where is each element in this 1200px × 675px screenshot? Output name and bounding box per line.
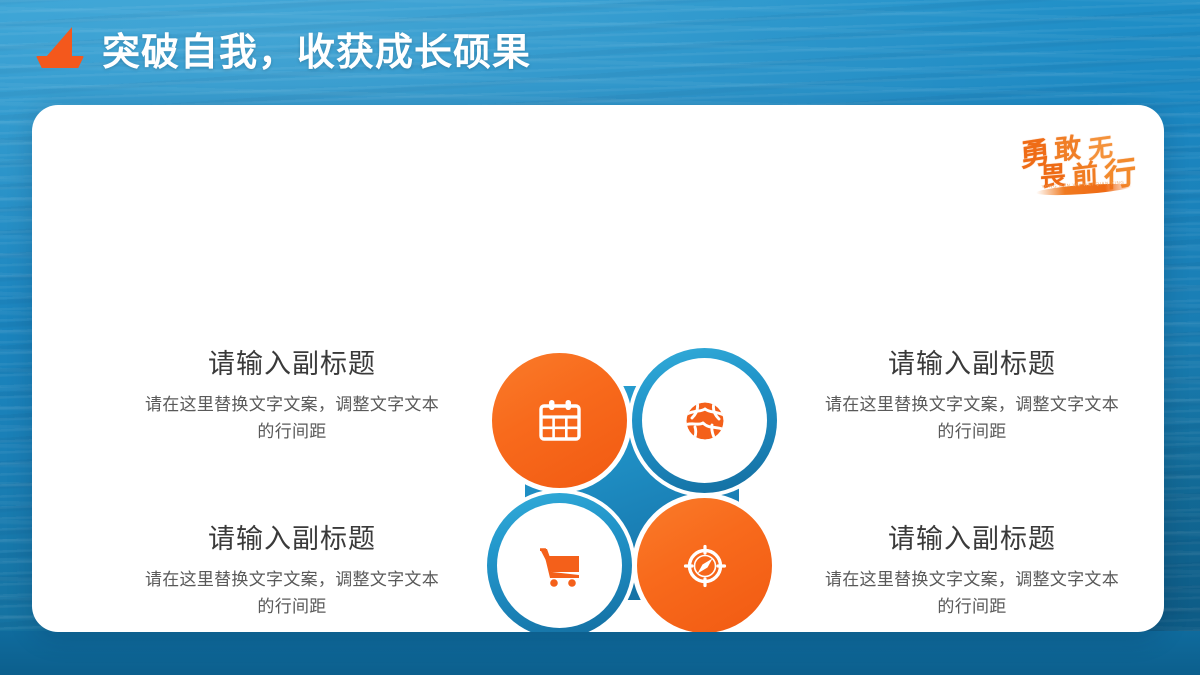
sailboat-icon <box>34 26 86 70</box>
content-card: 勇 敢 无 畏 前 行 YONG GAN WU WEI QIAN XING 请输… <box>32 105 1164 632</box>
node-bottom-right[interactable] <box>632 493 777 632</box>
globe-icon <box>681 397 729 445</box>
text-block-heading: 请输入副标题 <box>127 348 457 382</box>
text-block-heading: 请输入副标题 <box>127 523 457 557</box>
brand-logo: 勇 敢 无 畏 前 行 YONG GAN WU WEI QIAN XING <box>1006 127 1146 205</box>
text-block-body: 请在这里替换文字文案，调整文字文本的行间距 <box>127 566 457 621</box>
slide-root: 突破自我，收获成长硕果 勇 敢 无 畏 前 行 YONG GAN WU WEI … <box>0 0 1200 675</box>
node-bottom-left[interactable] <box>487 493 632 632</box>
node-top-left[interactable] <box>487 348 632 493</box>
sailboat-sail <box>46 27 72 57</box>
text-block-bottom-right: 请输入副标题 请在这里替换文字文案，调整文字文本的行间距 <box>807 523 1137 621</box>
calendar-icon <box>536 397 584 445</box>
node-top-right[interactable] <box>632 348 777 493</box>
text-block-body: 请在这里替换文字文案，调整文字文本的行间距 <box>807 391 1137 446</box>
page-title: 突破自我，收获成长硕果 <box>102 21 531 76</box>
bottom-background-strip <box>0 631 1200 675</box>
text-block-top-right: 请输入副标题 请在这里替换文字文案，调整文字文本的行间距 <box>807 348 1137 446</box>
compass-icon <box>681 542 729 590</box>
text-block-bottom-left: 请输入副标题 请在这里替换文字文案，调整文字文本的行间距 <box>127 523 457 621</box>
icon-cluster <box>487 348 777 632</box>
slide-title-row: 突破自我，收获成长硕果 <box>34 16 531 80</box>
text-block-heading: 请输入副标题 <box>807 523 1137 557</box>
text-block-heading: 请输入副标题 <box>807 348 1137 382</box>
text-block-body: 请在这里替换文字文案，调整文字文本的行间距 <box>807 566 1137 621</box>
text-block-body: 请在这里替换文字文案，调整文字文本的行间距 <box>127 391 457 446</box>
shopping-cart-icon <box>536 542 584 590</box>
text-block-top-left: 请输入副标题 请在这里替换文字文案，调整文字文本的行间距 <box>127 348 457 446</box>
sailboat-hull <box>36 56 84 68</box>
